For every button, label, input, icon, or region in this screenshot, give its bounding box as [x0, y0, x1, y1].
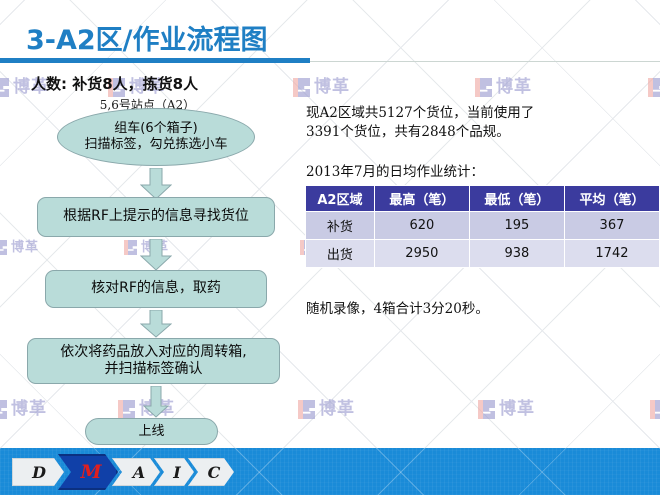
- dmaic-phase-a-label: A: [133, 463, 145, 482]
- stats-caption: 2013年7月的日均作业统计：: [306, 163, 651, 182]
- table-cell-r0c3: 367: [564, 212, 659, 240]
- flow-node-end-line1: 上线: [138, 424, 164, 440]
- capacity-paragraph: 现A2区域共5127个货位，当前使用了 3391个货位，共有2848个品规。: [306, 104, 651, 142]
- table-row: 出货 2950 938 1742: [306, 240, 660, 268]
- bogr-logo-icon: [0, 400, 7, 419]
- flow-node-start: 组车(6个箱子) 扫描标签，勾兑拣选小车: [57, 108, 255, 166]
- capacity-line-2: 3391个货位，共有2848个品规。: [306, 123, 651, 142]
- table-cell-r1c3: 1742: [564, 240, 659, 268]
- page-title: 3-A2区/作业流程图: [26, 18, 268, 57]
- watermark: 博革: [478, 400, 535, 419]
- bogr-logo-icon: [118, 400, 135, 419]
- flow-node-step3-line1: 依次将药品放入对应的周转箱,: [60, 344, 246, 361]
- capacity-line-1: 现A2区域共5127个货位，当前使用了: [306, 104, 651, 123]
- flow-node-step1: 根据RF上提示的信息寻找货位: [37, 197, 275, 237]
- dmaic-phase-i[interactable]: I: [154, 458, 194, 486]
- watermark-text: 博革: [11, 400, 47, 419]
- watermark: 博革: [475, 78, 532, 97]
- watermark-text: 博革: [319, 400, 355, 419]
- footer-bar: D M A I C: [0, 448, 660, 495]
- watermark: 博革: [298, 400, 355, 419]
- watermark-text: 博革: [496, 78, 532, 97]
- table-cell-r0c0: 补货: [306, 212, 375, 240]
- bogr-logo-icon: [478, 400, 495, 419]
- header-divider-accent: [0, 58, 310, 63]
- watermark: 博革: [293, 78, 350, 97]
- flow-node-step3: 依次将药品放入对应的周转箱, 并扫描标签确认: [27, 338, 280, 384]
- watermark-text: 博革: [499, 400, 535, 419]
- watermark: 博革: [0, 400, 47, 419]
- watermark-text: 博革: [11, 240, 39, 255]
- watermark: 博革: [648, 78, 660, 97]
- table-cell-r1c1: 2950: [374, 240, 469, 268]
- table-row: 补货 620 195 367: [306, 212, 660, 240]
- flow-arrow-2: [140, 239, 172, 271]
- flow-node-end: 上线: [85, 418, 218, 445]
- table-header-cell-2: 最低（笔）: [469, 186, 564, 212]
- dmaic-phase-d[interactable]: D: [12, 458, 64, 486]
- table-header-row: A2区域 最高（笔） 最低（笔） 平均（笔）: [306, 186, 660, 212]
- watermark: 博革: [0, 240, 39, 255]
- bogr-logo-icon: [293, 78, 310, 97]
- dmaic-phase-nav[interactable]: D M A I C: [12, 458, 228, 486]
- bogr-logo-icon: [0, 78, 9, 97]
- people-count-label: 人数: 补货8人，拣货8人: [31, 73, 198, 94]
- flow-node-step2: 核对RF的信息，取药: [45, 270, 267, 308]
- dmaic-phase-c-label: C: [208, 463, 221, 482]
- dmaic-phase-i-label: I: [173, 463, 180, 482]
- recording-note: 随机录像，4箱合计3分20秒。: [306, 300, 651, 319]
- bogr-logo-icon: [475, 78, 492, 97]
- flow-node-start-line2: 扫描标签，勾兑拣选小车: [84, 137, 227, 153]
- flow-node-start-line1: 组车(6个箱子): [84, 121, 227, 137]
- table-header-cell-3: 平均（笔）: [564, 186, 659, 212]
- bogr-logo-icon: [0, 240, 7, 255]
- table-header-cell-1: 最高（笔）: [374, 186, 469, 212]
- table-header-cell-0: A2区域: [306, 186, 375, 212]
- bogr-logo-icon: [124, 240, 137, 255]
- flow-node-step2-line1: 核对RF的信息，取药: [91, 280, 221, 297]
- flow-node-step3-line2: 并扫描标签确认: [60, 361, 246, 378]
- bogr-logo-icon: [298, 400, 315, 419]
- flow-node-step1-line1: 根据RF上提示的信息寻找货位: [63, 208, 249, 225]
- flow-arrow-3: [140, 310, 172, 338]
- bogr-logo-icon: [650, 400, 660, 419]
- table-cell-r0c1: 620: [374, 212, 469, 240]
- dmaic-phase-c[interactable]: C: [188, 458, 234, 486]
- flow-arrow-4: [143, 386, 169, 418]
- watermark: 博革: [650, 400, 660, 419]
- table-cell-r0c2: 195: [469, 212, 564, 240]
- dmaic-phase-d-label: D: [32, 463, 46, 482]
- flow-arrow-1: [140, 168, 172, 200]
- dmaic-phase-m-label: M: [80, 461, 101, 483]
- bogr-logo-icon: [648, 78, 660, 97]
- slide-canvas: 博革 博革 博革 博革 博革 博革 博革 博革 博革 博革 博革: [0, 0, 660, 495]
- daily-stats-table: A2区域 最高（笔） 最低（笔） 平均（笔） 补货 620 195 367 出货…: [305, 185, 660, 268]
- table-cell-r1c0: 出货: [306, 240, 375, 268]
- table-cell-r1c2: 938: [469, 240, 564, 268]
- watermark-text: 博革: [314, 78, 350, 97]
- dmaic-phase-m[interactable]: M: [58, 454, 118, 490]
- dmaic-phase-a[interactable]: A: [112, 458, 160, 486]
